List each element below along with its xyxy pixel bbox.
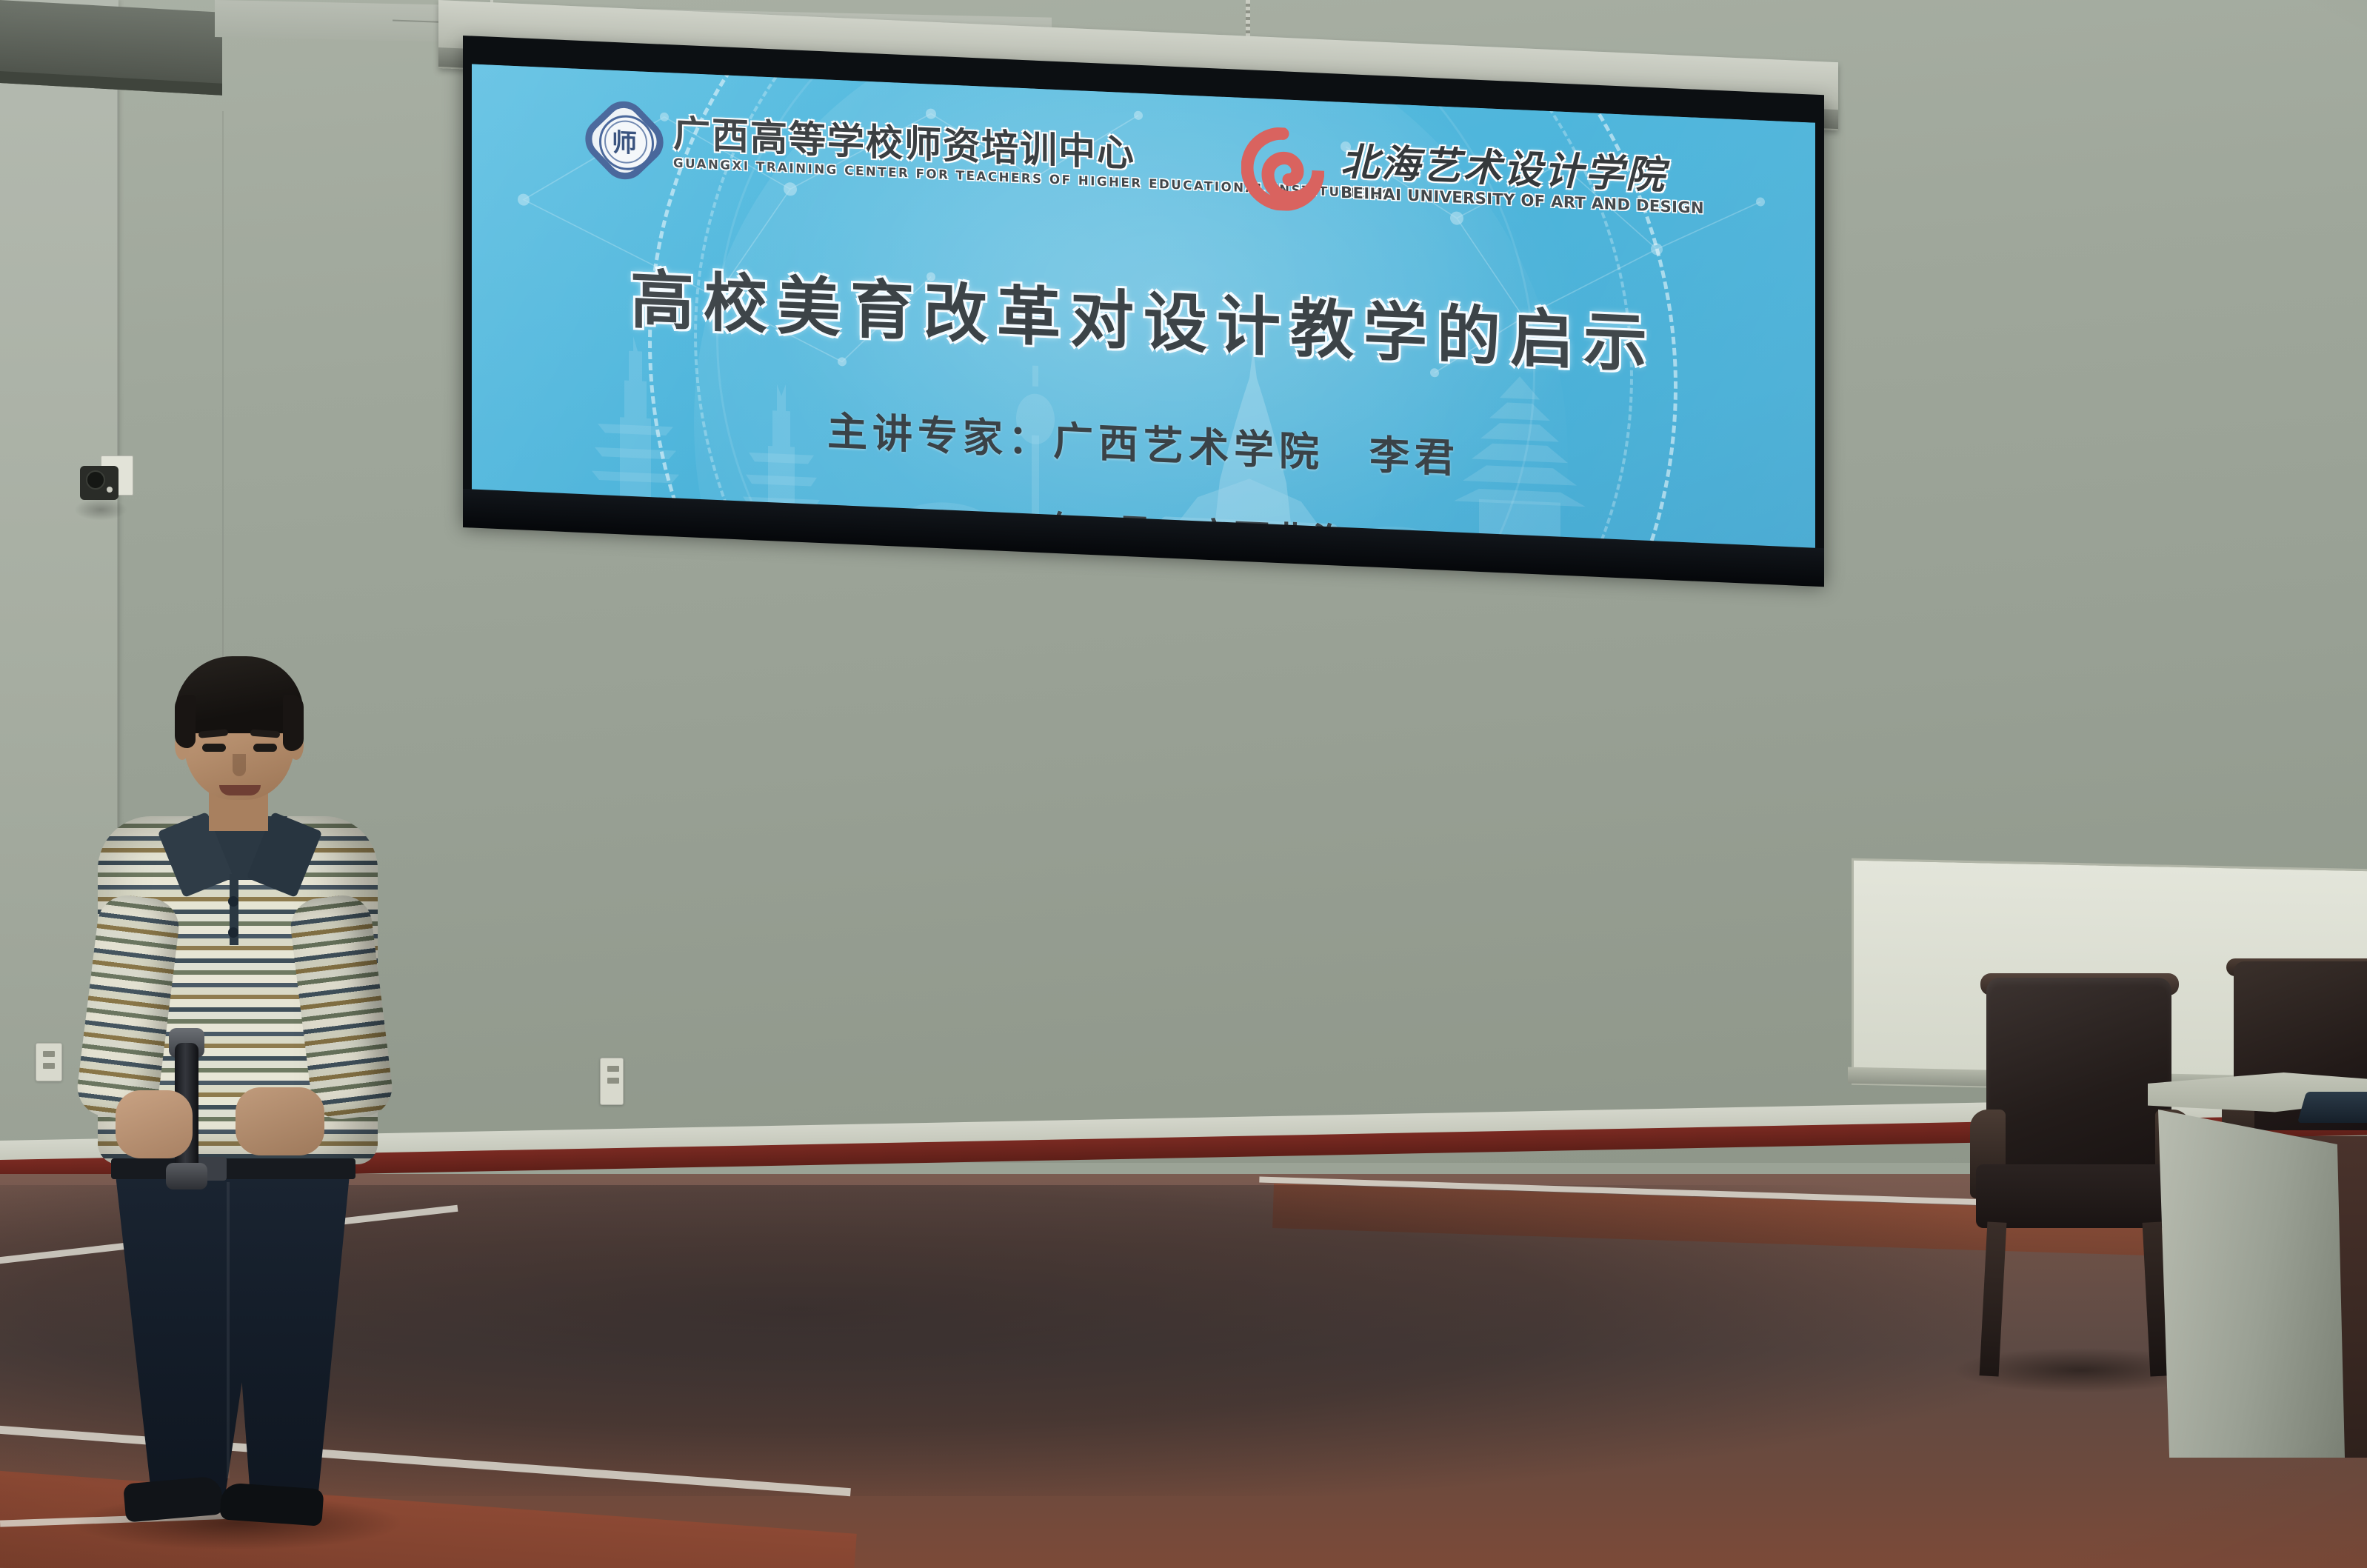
slide-surface: 师 广西高等学校师资培训中心 GUANGXI TRAINING CENTER F… <box>472 64 1815 573</box>
presenter-trousers <box>116 1175 350 1509</box>
laptop-on-podium <box>2297 1092 2367 1123</box>
power-outlet <box>600 1058 624 1105</box>
presenter <box>81 652 393 1563</box>
lecture-hall-photo: 师 广西高等学校师资培训中心 GUANGXI TRAINING CENTER F… <box>0 0 2367 1568</box>
presenter-hand-right <box>236 1087 324 1155</box>
teacher-seal-icon: 师 <box>590 105 658 176</box>
red-spiral-icon <box>1241 126 1324 213</box>
presenter-mouth <box>219 785 261 795</box>
wall-camera-icon <box>80 456 132 509</box>
presenter-belt <box>111 1158 355 1179</box>
presenter-eye <box>202 744 226 752</box>
lectern-podium <box>2148 1072 2367 1458</box>
presenter-eye <box>253 744 277 752</box>
presenter-shoe <box>219 1482 324 1527</box>
power-outlet <box>36 1043 62 1081</box>
badge-character: 师 <box>590 105 658 176</box>
presenter-hand-left <box>116 1090 193 1158</box>
